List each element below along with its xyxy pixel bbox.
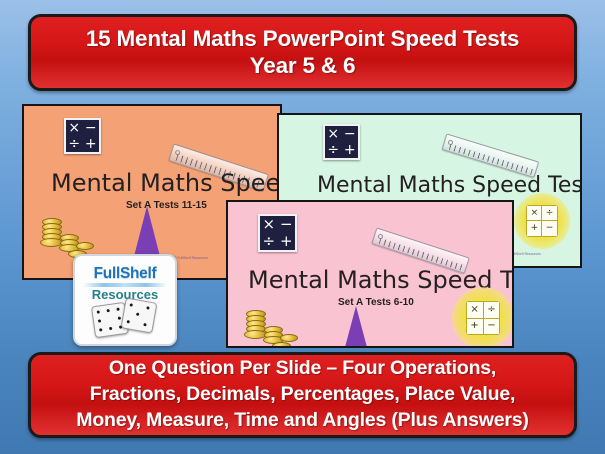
math-icon-divide: ÷	[262, 234, 275, 249]
calc-divide: ÷	[542, 206, 556, 220]
top-banner-line-1: 15 Mental Maths PowerPoint Speed Tests	[86, 26, 519, 52]
purple-triangle-graphic	[340, 306, 372, 348]
bottom-banner-line-3: Money, Measure, Time and Angles (Plus An…	[76, 408, 528, 434]
calculator-badge-icon: × ÷ + −	[514, 193, 570, 249]
dice-icon-right	[121, 297, 158, 333]
calc-multiply: ×	[527, 206, 541, 220]
slide-preview-pink: × − ÷ + Mental Maths Speed Tests Set A T…	[226, 200, 514, 348]
top-banner-line-2: Year 5 & 6	[86, 53, 519, 79]
math-icon-divide: ÷	[327, 143, 339, 157]
calc-plus: +	[527, 221, 541, 235]
math-icon-minus: −	[344, 127, 356, 141]
ruler-graphic	[442, 133, 540, 178]
math-icon-minus: −	[280, 217, 293, 232]
calc-plus: +	[467, 319, 483, 335]
math-icon-multiply: ×	[68, 121, 80, 135]
bottom-description-banner: One Question Per Slide – Four Operations…	[28, 352, 577, 438]
logo-text-fullshelf: FullShelf	[75, 265, 175, 283]
calc-multiply: ×	[467, 302, 483, 318]
product-cover-image: 15 Mental Maths PowerPoint Speed Tests Y…	[0, 0, 605, 454]
math-operations-icon: × − ÷ +	[64, 118, 101, 154]
bottom-banner-line-2: Fractions, Decimals, Percentages, Place …	[76, 382, 528, 408]
gold-coins-graphic	[242, 310, 298, 348]
calc-divide: ÷	[484, 302, 500, 318]
math-icon-divide: ÷	[68, 137, 80, 151]
slide-title-orange: Mental Maths Speed Tests	[51, 169, 282, 197]
calc-minus: −	[542, 221, 556, 235]
math-icon-multiply: ×	[327, 127, 339, 141]
math-operations-icon: × − ÷ +	[258, 214, 297, 252]
math-icon-plus: +	[344, 143, 356, 157]
calculator-badge-icon: × ÷ + −	[452, 287, 514, 348]
math-icon-multiply: ×	[262, 217, 275, 232]
watermark-orange: © FullShelf Resources	[174, 256, 208, 260]
fullshelf-resources-logo: FullShelf Resources	[73, 254, 177, 346]
math-icon-plus: +	[280, 234, 293, 249]
bottom-banner-line-1: One Question Per Slide – Four Operations…	[76, 356, 528, 382]
top-title-banner: 15 Mental Maths PowerPoint Speed Tests Y…	[28, 14, 577, 91]
math-operations-icon: × − ÷ +	[323, 124, 360, 160]
math-icon-plus: +	[85, 137, 97, 151]
math-icon-minus: −	[85, 121, 97, 135]
calc-minus: −	[484, 319, 500, 335]
